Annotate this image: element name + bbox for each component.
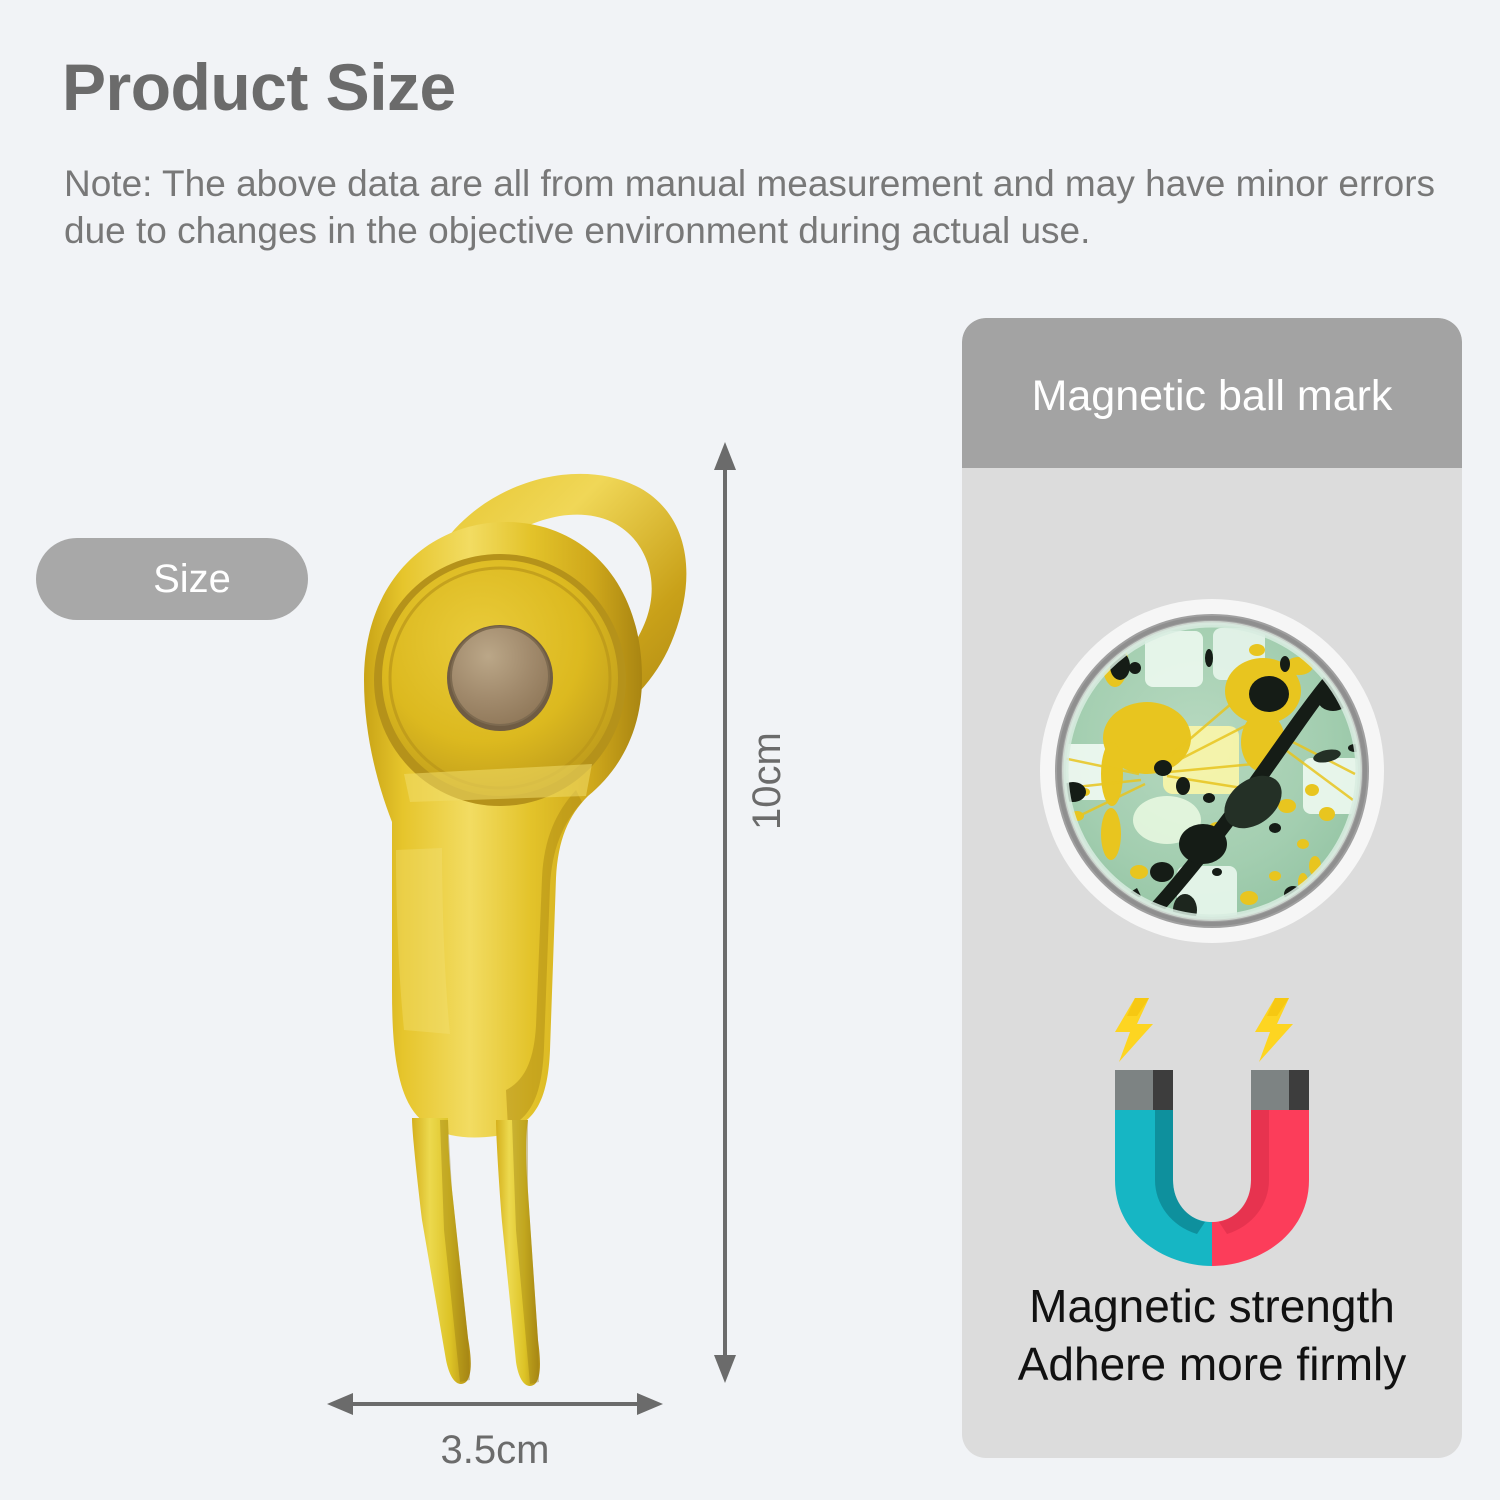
size-badge-label: Size [113, 557, 231, 602]
product-image-golf-divot-tool [300, 430, 720, 1410]
horseshoe-magnet-icon [1097, 990, 1327, 1270]
panel-header: Magnetic ball mark [962, 318, 1462, 468]
size-badge: Size [36, 538, 308, 620]
width-dimension-label: 3.5cm [325, 1428, 665, 1473]
width-arrow [325, 1385, 665, 1423]
panel-footer-line-2: Adhere more firmly [962, 1336, 1462, 1394]
height-arrow [700, 440, 750, 1385]
ball-mark-image [1017, 576, 1407, 966]
page-title: Product Size [62, 54, 456, 120]
divot-tool-illustration [300, 430, 720, 1410]
lightning-bolt-icon-right [1255, 998, 1293, 1062]
magnet-icon-wrap [1097, 990, 1327, 1270]
measurement-note: Note: The above data are all from manual… [64, 160, 1454, 255]
panel-footer-line-1: Magnetic strength [962, 1278, 1462, 1336]
panel-footer-text: Magnetic strength Adhere more firmly [962, 1278, 1462, 1393]
height-dimension-label: 10cm [745, 732, 790, 830]
height-dimension-line [700, 440, 750, 1385]
ball-mark-illustration [1017, 576, 1407, 966]
magnetic-ball-mark-panel: Magnetic ball mark [962, 318, 1462, 1458]
panel-header-label: Magnetic ball mark [1032, 366, 1393, 421]
lightning-bolt-icon-left [1115, 998, 1153, 1062]
width-dimension-line [325, 1385, 665, 1423]
